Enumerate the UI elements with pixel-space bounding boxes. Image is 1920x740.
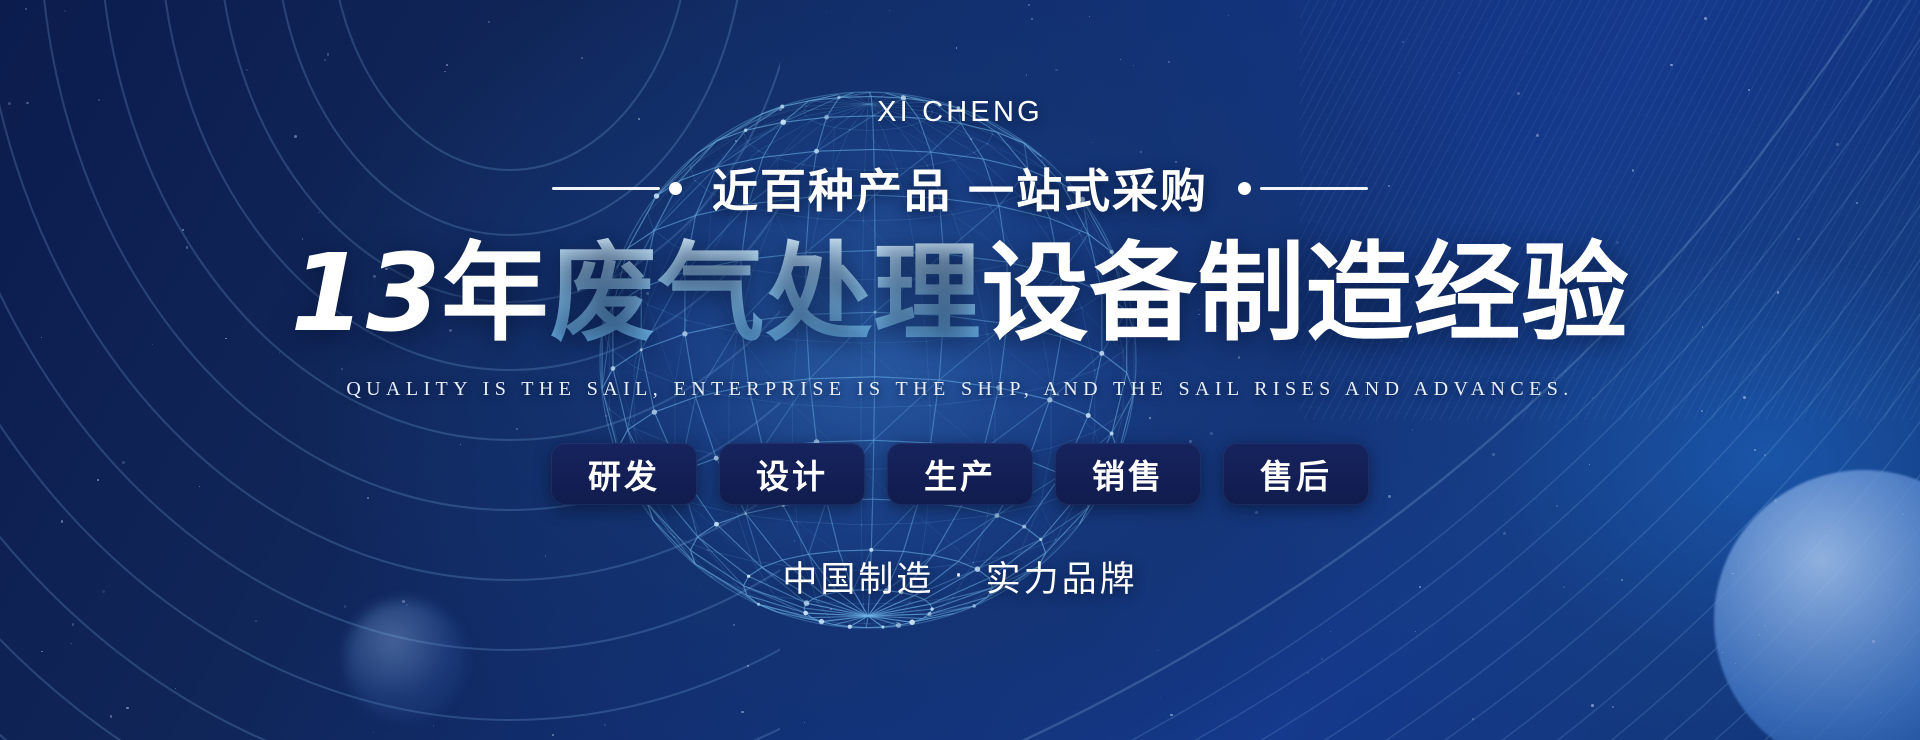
headline-years-number: 13 bbox=[291, 232, 442, 356]
subtitle-row: 近百种产品一站式采购 bbox=[552, 155, 1368, 221]
ornament-line-right bbox=[1260, 187, 1368, 190]
ornament-line-left bbox=[552, 187, 660, 190]
brand-name-en: XI CHENG bbox=[877, 96, 1043, 129]
service-badge[interactable]: 设计 bbox=[719, 443, 865, 505]
service-badge[interactable]: 研发 bbox=[551, 443, 697, 505]
subtitle-part-2: 一站式采购 bbox=[968, 164, 1208, 218]
service-badge[interactable]: 生产 bbox=[887, 443, 1033, 505]
ornament-left bbox=[552, 182, 682, 195]
headline-tail: 设备制造经验 bbox=[981, 232, 1629, 356]
headline-highlight: 废气处理 bbox=[549, 232, 981, 356]
main-headline: 13年废气处理设备制造经验 bbox=[291, 229, 1630, 360]
english-tagline: QUALITY IS THE SAIL, ENTERPRISE IS THE S… bbox=[346, 378, 1573, 401]
subtitle-part-1: 近百种产品 bbox=[712, 164, 952, 218]
ornament-dot-right bbox=[1238, 182, 1251, 195]
ornament-dot-left bbox=[669, 182, 682, 195]
service-badge[interactable]: 销售 bbox=[1055, 443, 1201, 505]
footer-separator-dot: · bbox=[954, 561, 965, 591]
subtitle-text: 近百种产品一站式采购 bbox=[712, 155, 1208, 221]
footer-right-text: 实力品牌 bbox=[986, 551, 1138, 602]
service-badge-list: 研发设计生产销售售后 bbox=[551, 443, 1369, 505]
headline-years-unit: 年 bbox=[441, 232, 549, 356]
footer-slogan: 中国制造 · 实力品牌 bbox=[782, 551, 1137, 602]
footer-left-text: 中国制造 bbox=[782, 551, 934, 602]
banner-content: XI CHENG 近百种产品一站式采购 13年废气处理设备制造经验 QUALIT… bbox=[0, 0, 1920, 740]
service-badge[interactable]: 售后 bbox=[1223, 443, 1369, 505]
ornament-right bbox=[1238, 182, 1368, 195]
hero-banner: XI CHENG 近百种产品一站式采购 13年废气处理设备制造经验 QUALIT… bbox=[0, 0, 1920, 740]
